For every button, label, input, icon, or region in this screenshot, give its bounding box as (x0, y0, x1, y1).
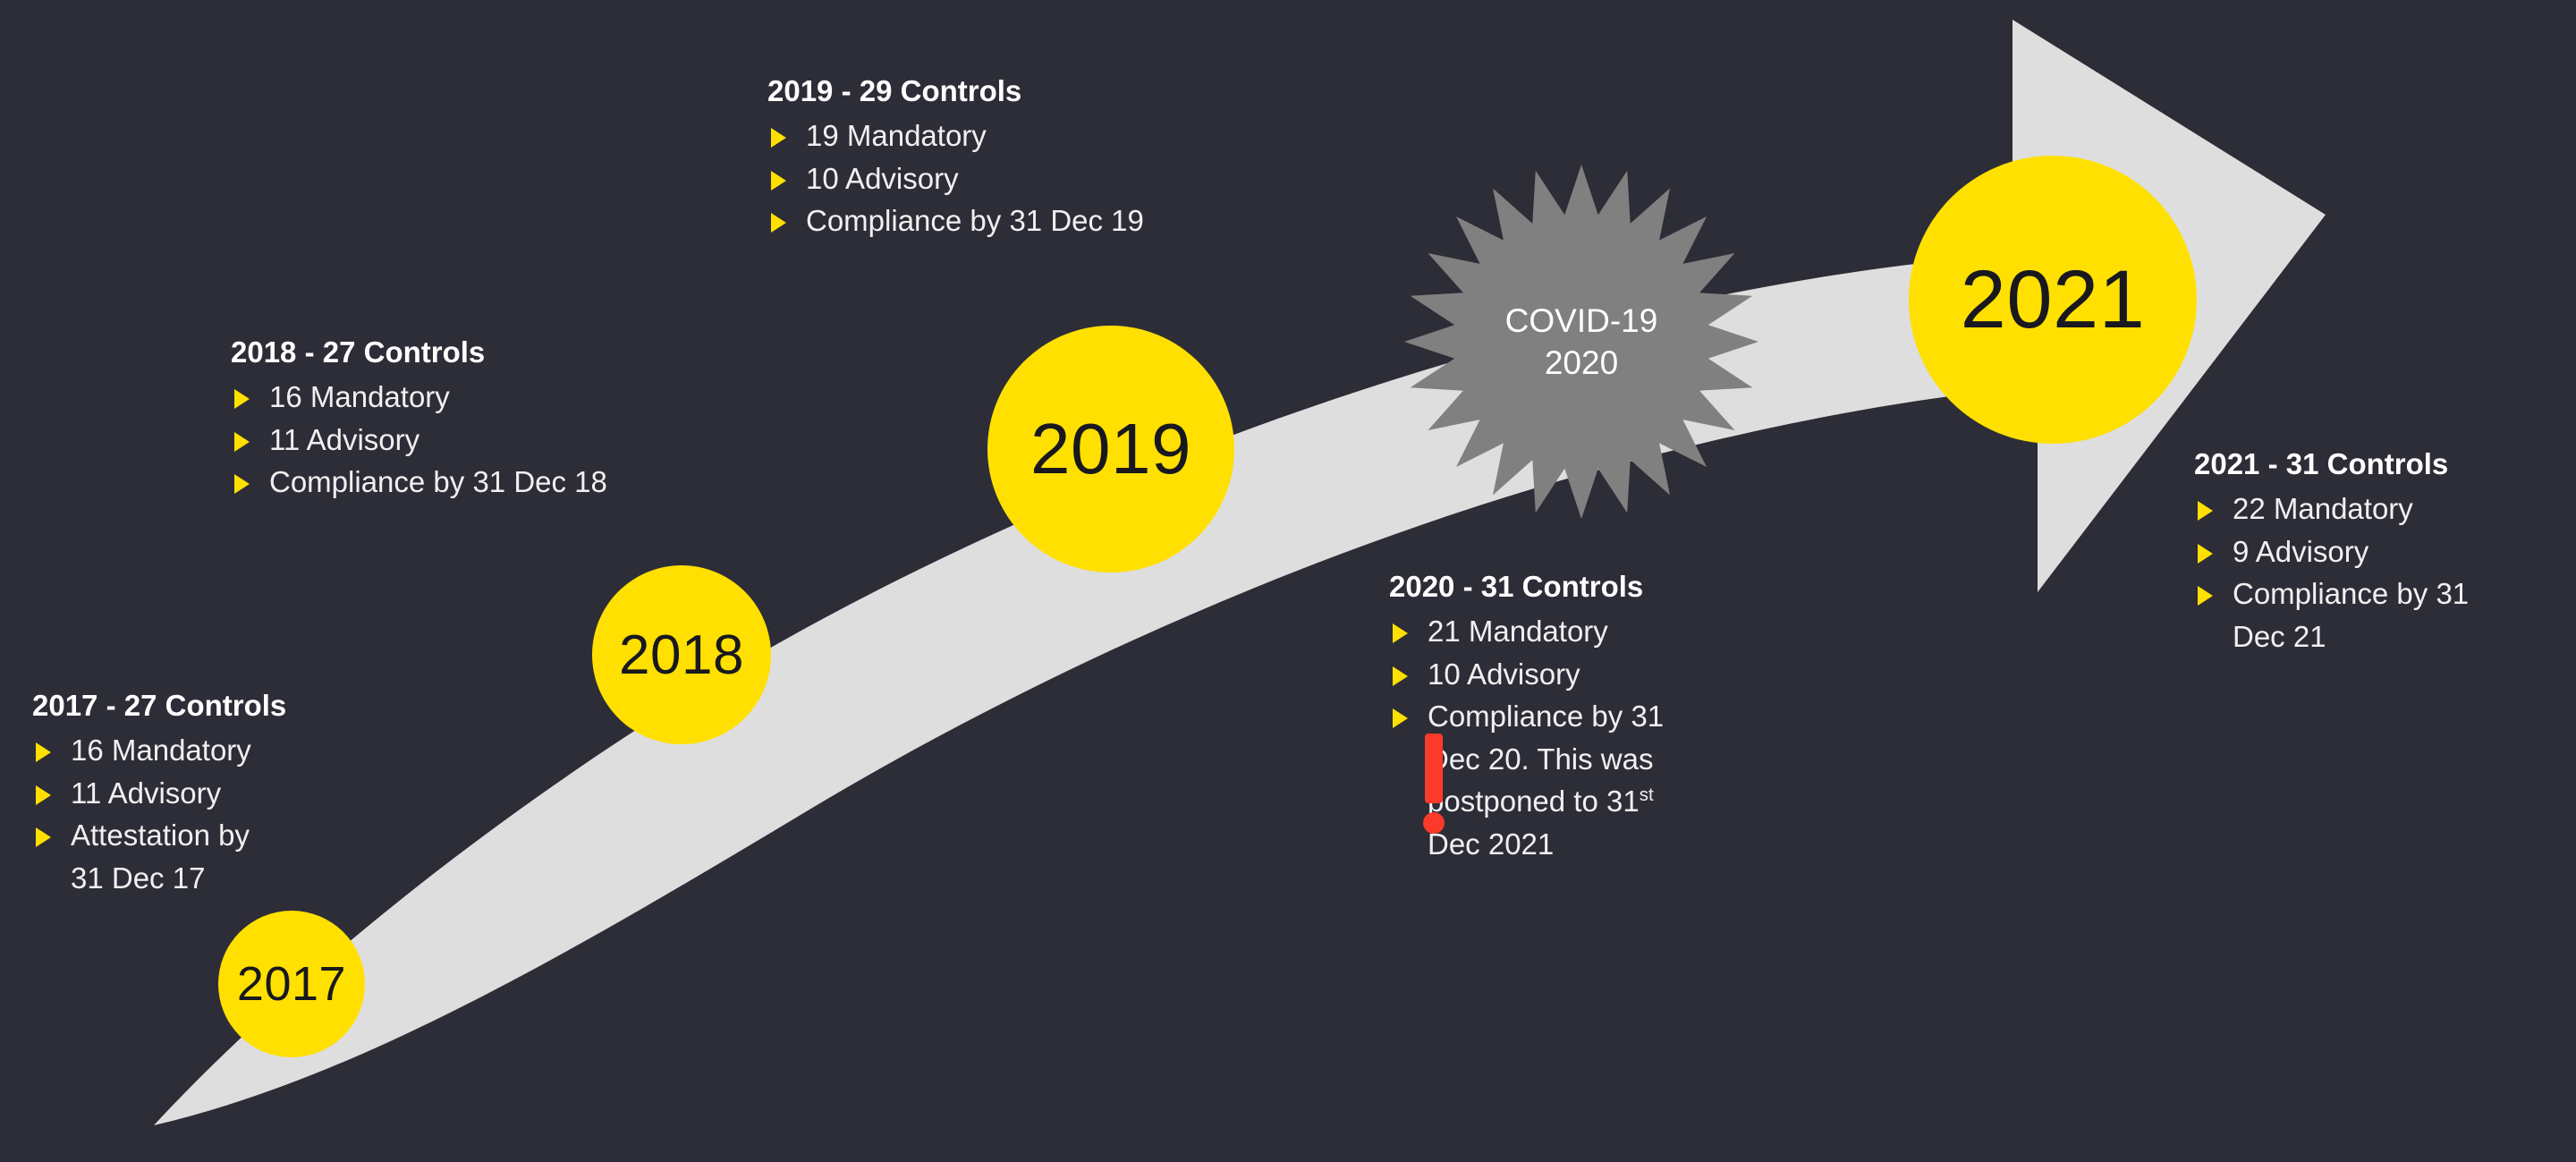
info-block-2019: 2019 - 29 Controls 19 Mandatory10 Adviso… (767, 74, 1304, 244)
info-list-item-label: Dec 2021 (1428, 825, 1554, 865)
year-bubble-2018-label: 2018 (619, 623, 744, 687)
info-list-item: 10 Advisory (1389, 655, 1765, 695)
info-list-item: 9 Advisory (2194, 532, 2552, 573)
info-list-item: 19 Mandatory (767, 116, 1304, 157)
year-bubble-2021-label: 2021 (1961, 253, 2146, 347)
info-block-2017: 2017 - 27 Controls 16 Mandatory11 Adviso… (32, 689, 390, 901)
info-list-item: 31 Dec 17 (32, 859, 390, 899)
info-list-item: 22 Mandatory (2194, 489, 2552, 530)
year-bubble-2018[interactable]: 2018 (592, 565, 771, 744)
bullet-triangle-icon (36, 742, 51, 762)
info-list-item-label: Dec 20. This was (1428, 740, 1654, 780)
info-list-item-label: Compliance by 31 Dec 19 (806, 201, 1144, 242)
starburst-icon (1402, 163, 1760, 521)
info-list-item: postponed to 31st (1389, 782, 1765, 822)
info-list-item-label: 11 Advisory (71, 774, 221, 814)
bullet-triangle-icon (2198, 586, 2213, 606)
bullet-triangle-icon (36, 827, 51, 847)
info-list-item: Attestation by (32, 816, 390, 856)
info-list-item-label: 11 Advisory (269, 420, 419, 461)
info-list-item: Dec 20. This was (1389, 740, 1765, 780)
info-list-item: 11 Advisory (32, 774, 390, 814)
info-block-2020-title: 2020 - 31 Controls (1389, 570, 1765, 604)
info-list-item-label: Attestation by (71, 816, 250, 856)
bullet-triangle-icon (234, 432, 250, 452)
info-list-item: 16 Mandatory (32, 731, 390, 771)
info-list-item: Compliance by 31 Dec 18 (231, 462, 732, 503)
info-list-item: 11 Advisory (231, 420, 732, 461)
bullet-triangle-icon (1393, 666, 1408, 686)
info-list-item-label: Compliance by 31 Dec 18 (269, 462, 607, 503)
year-bubble-2017-label: 2017 (237, 956, 346, 1012)
year-bubble-2021[interactable]: 2021 (1909, 156, 2197, 444)
bullet-triangle-icon (771, 128, 786, 148)
info-block-2021: 2021 - 31 Controls 22 Mandatory9 Advisor… (2194, 447, 2552, 659)
info-list-item: Dec 2021 (1389, 825, 1765, 865)
info-list-item-label: 21 Mandatory (1428, 612, 1608, 652)
year-bubble-2019[interactable]: 2019 (987, 326, 1234, 573)
warning-exclamation-bar (1425, 734, 1443, 803)
info-list-item-label: 9 Advisory (2233, 532, 2368, 573)
info-block-2021-title: 2021 - 31 Controls (2194, 447, 2552, 481)
bullet-triangle-icon (2198, 544, 2213, 564)
info-list-item: Compliance by 31 Dec 19 (767, 201, 1304, 242)
info-list-item-label: 19 Mandatory (806, 116, 987, 157)
bullet-triangle-icon (1393, 708, 1408, 728)
info-block-2017-title: 2017 - 27 Controls (32, 689, 390, 723)
bullet-triangle-icon (1393, 623, 1408, 643)
info-list-item-label: 10 Advisory (1428, 655, 1580, 695)
info-list-item: Compliance by 31 (1389, 697, 1765, 737)
ordinal-suffix: st (1640, 785, 1654, 805)
info-list-item: Compliance by 31 (2194, 574, 2552, 615)
info-block-2020: 2020 - 31 Controls 21 Mandatory10 Adviso… (1389, 570, 1765, 867)
bullet-triangle-icon (234, 389, 250, 409)
info-list-item: 10 Advisory (767, 159, 1304, 199)
covid-starburst-badge[interactable]: COVID-19 2020 (1402, 163, 1760, 521)
info-list-item-label: 10 Advisory (806, 159, 959, 199)
bullet-triangle-icon (771, 213, 786, 233)
info-list-item-label: 31 Dec 17 (71, 859, 205, 899)
year-bubble-2017[interactable]: 2017 (218, 911, 365, 1057)
info-list-item: 16 Mandatory (231, 377, 732, 418)
warning-exclamation-dot (1423, 812, 1445, 834)
info-block-2017-list: 16 Mandatory11 AdvisoryAttestation by31 … (32, 731, 390, 898)
info-list-item-label: 16 Mandatory (269, 377, 450, 418)
warning-exclamation-icon (1423, 734, 1445, 834)
timeline-infographic: 2017 2018 2019 2021 COVID-19 2020 2017 -… (0, 0, 2576, 1162)
info-list-item-label: Dec 21 (2233, 617, 2326, 657)
info-list-item: Dec 21 (2194, 617, 2552, 657)
year-bubble-2019-label: 2019 (1030, 408, 1191, 490)
bullet-triangle-icon (2198, 501, 2213, 521)
info-block-2018-title: 2018 - 27 Controls (231, 335, 732, 369)
info-list-item-label: Compliance by 31 (2233, 574, 2469, 615)
info-block-2021-list: 22 Mandatory9 AdvisoryCompliance by 31De… (2194, 489, 2552, 657)
bullet-triangle-icon (36, 785, 51, 805)
info-list-item: 21 Mandatory (1389, 612, 1765, 652)
info-block-2018-list: 16 Mandatory11 AdvisoryCompliance by 31 … (231, 377, 732, 503)
bullet-triangle-icon (234, 474, 250, 494)
info-block-2018: 2018 - 27 Controls 16 Mandatory11 Adviso… (231, 335, 732, 505)
info-list-item-label: 16 Mandatory (71, 731, 251, 771)
info-list-item-label: postponed to 31st (1428, 782, 1654, 822)
info-block-2019-list: 19 Mandatory10 AdvisoryCompliance by 31 … (767, 116, 1304, 242)
info-block-2019-title: 2019 - 29 Controls (767, 74, 1304, 108)
info-list-item-label: 22 Mandatory (2233, 489, 2413, 530)
info-list-item-label: Compliance by 31 (1428, 697, 1664, 737)
bullet-triangle-icon (771, 171, 786, 191)
info-block-2020-list: 21 Mandatory10 AdvisoryCompliance by 31D… (1389, 612, 1765, 864)
